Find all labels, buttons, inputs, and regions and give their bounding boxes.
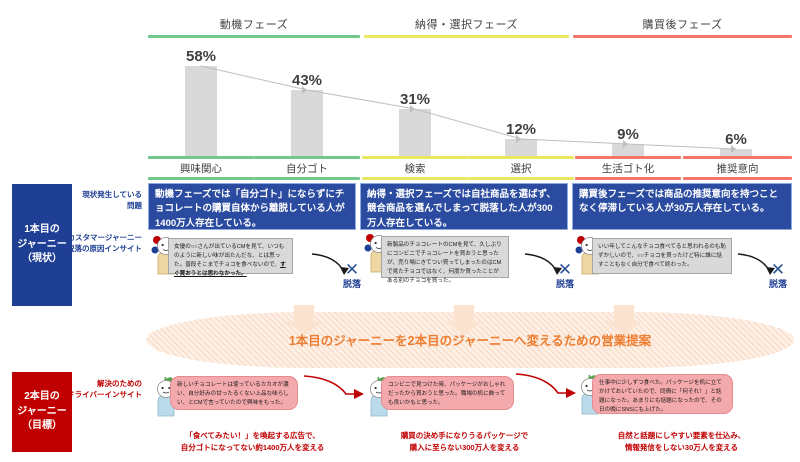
- stage-label: 興味関心: [148, 159, 254, 178]
- insight-bubble-1: 女優の○○さんが出ているCMを見て、いつものように新しい味が出たんだな、とは思っ…: [168, 238, 293, 274]
- cross-icon: ✕: [332, 263, 372, 277]
- dropoff-label: 脱落: [332, 277, 372, 290]
- sidebar-journey2-line3: （目標）: [17, 419, 67, 434]
- caption-line: 自分ゴトになってない約1400万人を変える: [150, 442, 355, 454]
- row-label-driver-insight: 解決のための ドライバーインサイト: [62, 378, 142, 401]
- caption-line: 「食べてみたい！」を喚起する広告で、: [150, 430, 355, 442]
- row-label-current-problems: 現状発生している 問題: [62, 189, 142, 212]
- phase-header-postpurchase: 購買後フェーズ: [573, 16, 792, 38]
- problem-banner-postpurchase: 購買後フェーズでは商品の推奨意向を持つことなく停滞している人が30万人存在してい…: [572, 183, 792, 230]
- solution-caption-2: 購買の決め手になりうるパッケージで 購入に至らない300万人を変える: [362, 430, 567, 454]
- phase-rule: [364, 35, 569, 38]
- dropoff-marker-1: ✕ 脱落: [332, 263, 372, 290]
- stage-axis-item-2[interactable]: 検索: [362, 156, 468, 180]
- slide-canvas: 動機フェーズ 納得・選択フェーズ 購買後フェーズ 58% 43% 31% 12%…: [0, 0, 800, 462]
- funnel-trend-line: [148, 58, 793, 158]
- sidebar-journey2-line1: 2本目の: [17, 390, 67, 405]
- stage-bottom-rule: [575, 177, 681, 180]
- solution-caption-3: 自然と話題にしやすい要素を仕込み、 情報発信をしない30万人を変える: [574, 430, 789, 454]
- driver-bubble-3: 仕事中に少しずつ食べた。パッケージを机に立てかけておいていたので、同僚に「何それ…: [592, 374, 733, 414]
- phase-label: 納得・選択フェーズ: [364, 16, 569, 35]
- stage-label: 推奨意向: [683, 159, 792, 178]
- stage-label: 自分ゴト: [254, 159, 360, 178]
- progress-arrow-1: [300, 374, 370, 406]
- stage-axis-item-0[interactable]: 興味関心: [148, 156, 254, 180]
- caption-line: 自然と話題にしやすい要素を仕込み、: [574, 430, 789, 442]
- driver-bubble-2: コンビニで見つけた時、パッケージがおしゃれだったから買おうと思った。職場の机に飾…: [381, 376, 514, 410]
- stage-axis-item-5[interactable]: 推奨意向: [683, 156, 792, 180]
- dropoff-marker-3: ✕ 脱落: [758, 263, 798, 290]
- proposal-band-text: 1本目のジャーニーを2本目のジャーニーへ変えるための営業提案: [146, 330, 794, 349]
- phase-rule: [573, 35, 792, 38]
- phase-label: 購買後フェーズ: [573, 16, 792, 35]
- stage-label: 選択: [468, 159, 574, 178]
- caption-line: 購買の決め手になりうるパッケージで: [362, 430, 567, 442]
- problem-banner-motivation: 動機フェーズでは「自分ゴト」にならずにチョコレートの購買自体から離脱している人が…: [148, 183, 356, 230]
- row-label-line: 現状発生している: [62, 189, 142, 200]
- row-label-line: ドライバーインサイト: [62, 389, 142, 400]
- caption-line: 購入に至らない300万人を変える: [362, 442, 567, 454]
- driver-bubble-1: 新しいチョコレートは使っているカカオが濃い、自分好みの甘ったるくない上品な味らし…: [170, 376, 298, 410]
- stage-label: 生活ゴト化: [575, 159, 681, 178]
- solution-caption-1: 「食べてみたい！」を喚起する広告で、 自分ゴトになってない約1400万人を変える: [150, 430, 355, 454]
- insight-bubble-3: いい年してこんなチョコ食べてると思われるのも恥ずかしいので、○○チョコを買ったけ…: [592, 238, 732, 274]
- cross-icon: ✕: [758, 263, 798, 277]
- stage-bottom-rule: [362, 177, 468, 180]
- phase-label: 動機フェーズ: [148, 16, 360, 35]
- row-label-line: 問題: [62, 200, 142, 211]
- stage-axis-item-4[interactable]: 生活ゴト化: [575, 156, 681, 180]
- caption-line: 情報発信をしない30万人を変える: [574, 442, 789, 454]
- dropoff-marker-2: ✕ 脱落: [545, 263, 585, 290]
- row-label-line: 解決のための: [62, 378, 142, 389]
- phase-rule: [148, 35, 360, 38]
- dropoff-label: 脱落: [758, 277, 798, 290]
- stage-bottom-rule: [254, 177, 360, 180]
- insight-bubble-2: 新製品のチョコレートのCMを見て、久しぶりにコンビニでチョコレートを買おうと思っ…: [381, 236, 509, 278]
- progress-arrow-2: [512, 372, 582, 404]
- sidebar-journey2-line2: ジャーニー: [17, 405, 67, 420]
- row-label-dropoff-insight: カスタマージャーニー 脱落の原因インサイト: [60, 232, 142, 255]
- problem-banner-selection: 納得・選択フェーズでは自社商品を選ばず、競合商品を選んでしまって脱落した人が30…: [360, 183, 568, 230]
- stage-label: 検索: [362, 159, 468, 178]
- stage-bottom-rule: [683, 177, 792, 180]
- insight-text: 女優の○○さんが出ているCMを見て、いつものように新しい味が出たんだな、とは思っ…: [174, 244, 284, 268]
- cross-icon: ✕: [545, 263, 585, 277]
- stage-bottom-rule: [148, 177, 254, 180]
- row-label-line: 脱落の原因インサイト: [60, 243, 142, 254]
- phase-header-motivation: 動機フェーズ: [148, 16, 360, 38]
- stage-axis-item-1[interactable]: 自分ゴト: [254, 156, 360, 180]
- stage-bottom-rule: [468, 177, 574, 180]
- stage-axis-item-3[interactable]: 選択: [468, 156, 574, 180]
- phase-header-selection: 納得・選択フェーズ: [364, 16, 569, 38]
- dropoff-label: 脱落: [545, 277, 585, 290]
- row-label-line: カスタマージャーニー: [60, 232, 142, 243]
